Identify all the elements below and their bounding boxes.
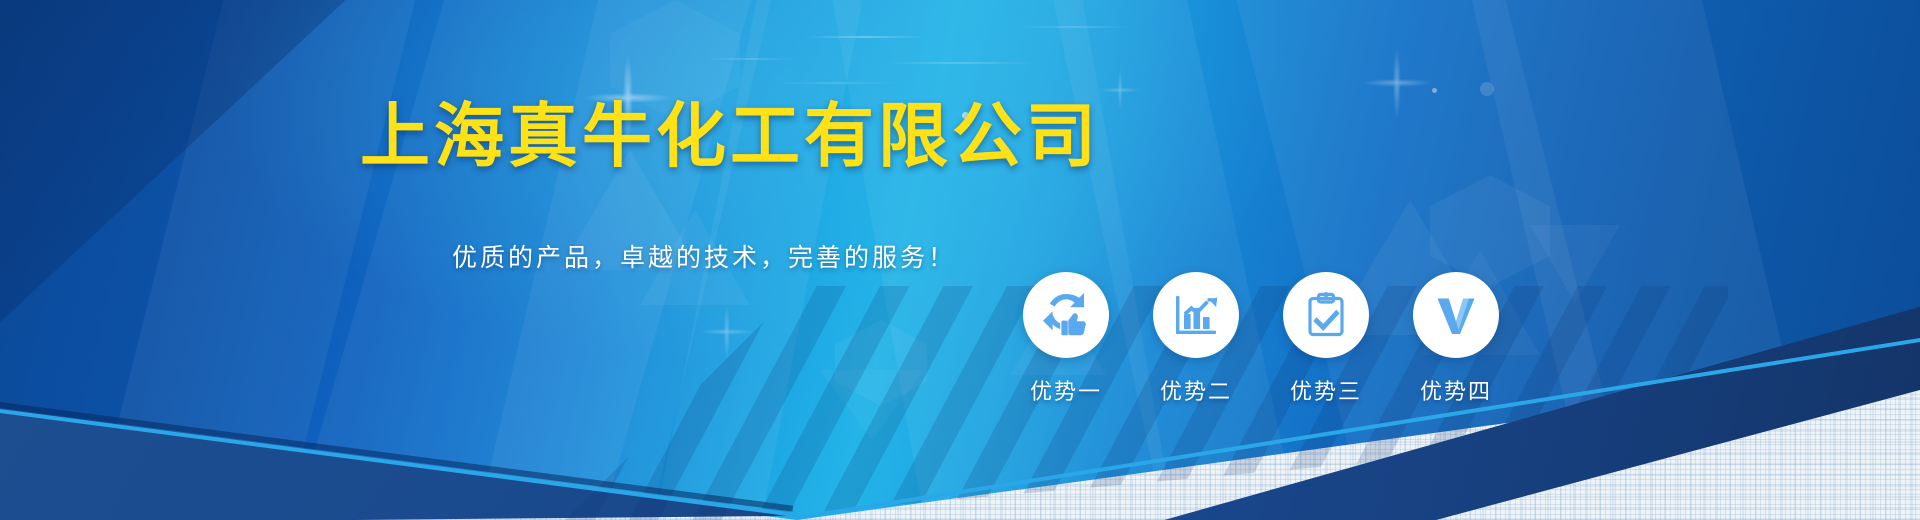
advantage-item-3[interactable]: 优势三 (1280, 272, 1372, 406)
bar-chart-growth-icon (1171, 290, 1221, 340)
advantage-label-4: 优势四 (1420, 374, 1492, 406)
advantages-list: 优势一 (1020, 272, 1502, 406)
company-hero-banner: 上海真牛化工有限公司 优质的产品，卓越的技术，完善的服务！ 优势一 (0, 0, 1920, 520)
advantage-item-2[interactable]: 优势二 (1150, 272, 1242, 406)
advantage-item-1[interactable]: 优势一 (1020, 272, 1112, 406)
advantage-label-2: 优势二 (1160, 374, 1232, 406)
v-check-icon (1431, 290, 1481, 340)
advantage-icon-circle-3[interactable] (1283, 272, 1369, 358)
advantage-icon-circle-1[interactable] (1023, 272, 1109, 358)
advantage-item-4[interactable]: 优势四 (1410, 272, 1502, 406)
advantage-label-3: 优势三 (1290, 374, 1362, 406)
advantage-icon-circle-4[interactable] (1413, 272, 1499, 358)
refresh-thumbsup-icon (1041, 290, 1091, 340)
page-title: 上海真牛化工有限公司 (360, 96, 1100, 177)
clipboard-check-icon (1301, 290, 1351, 340)
advantage-icon-circle-2[interactable] (1153, 272, 1239, 358)
advantage-label-1: 优势一 (1030, 374, 1102, 406)
tagline-text: 优质的产品，卓越的技术，完善的服务！ (452, 238, 956, 274)
